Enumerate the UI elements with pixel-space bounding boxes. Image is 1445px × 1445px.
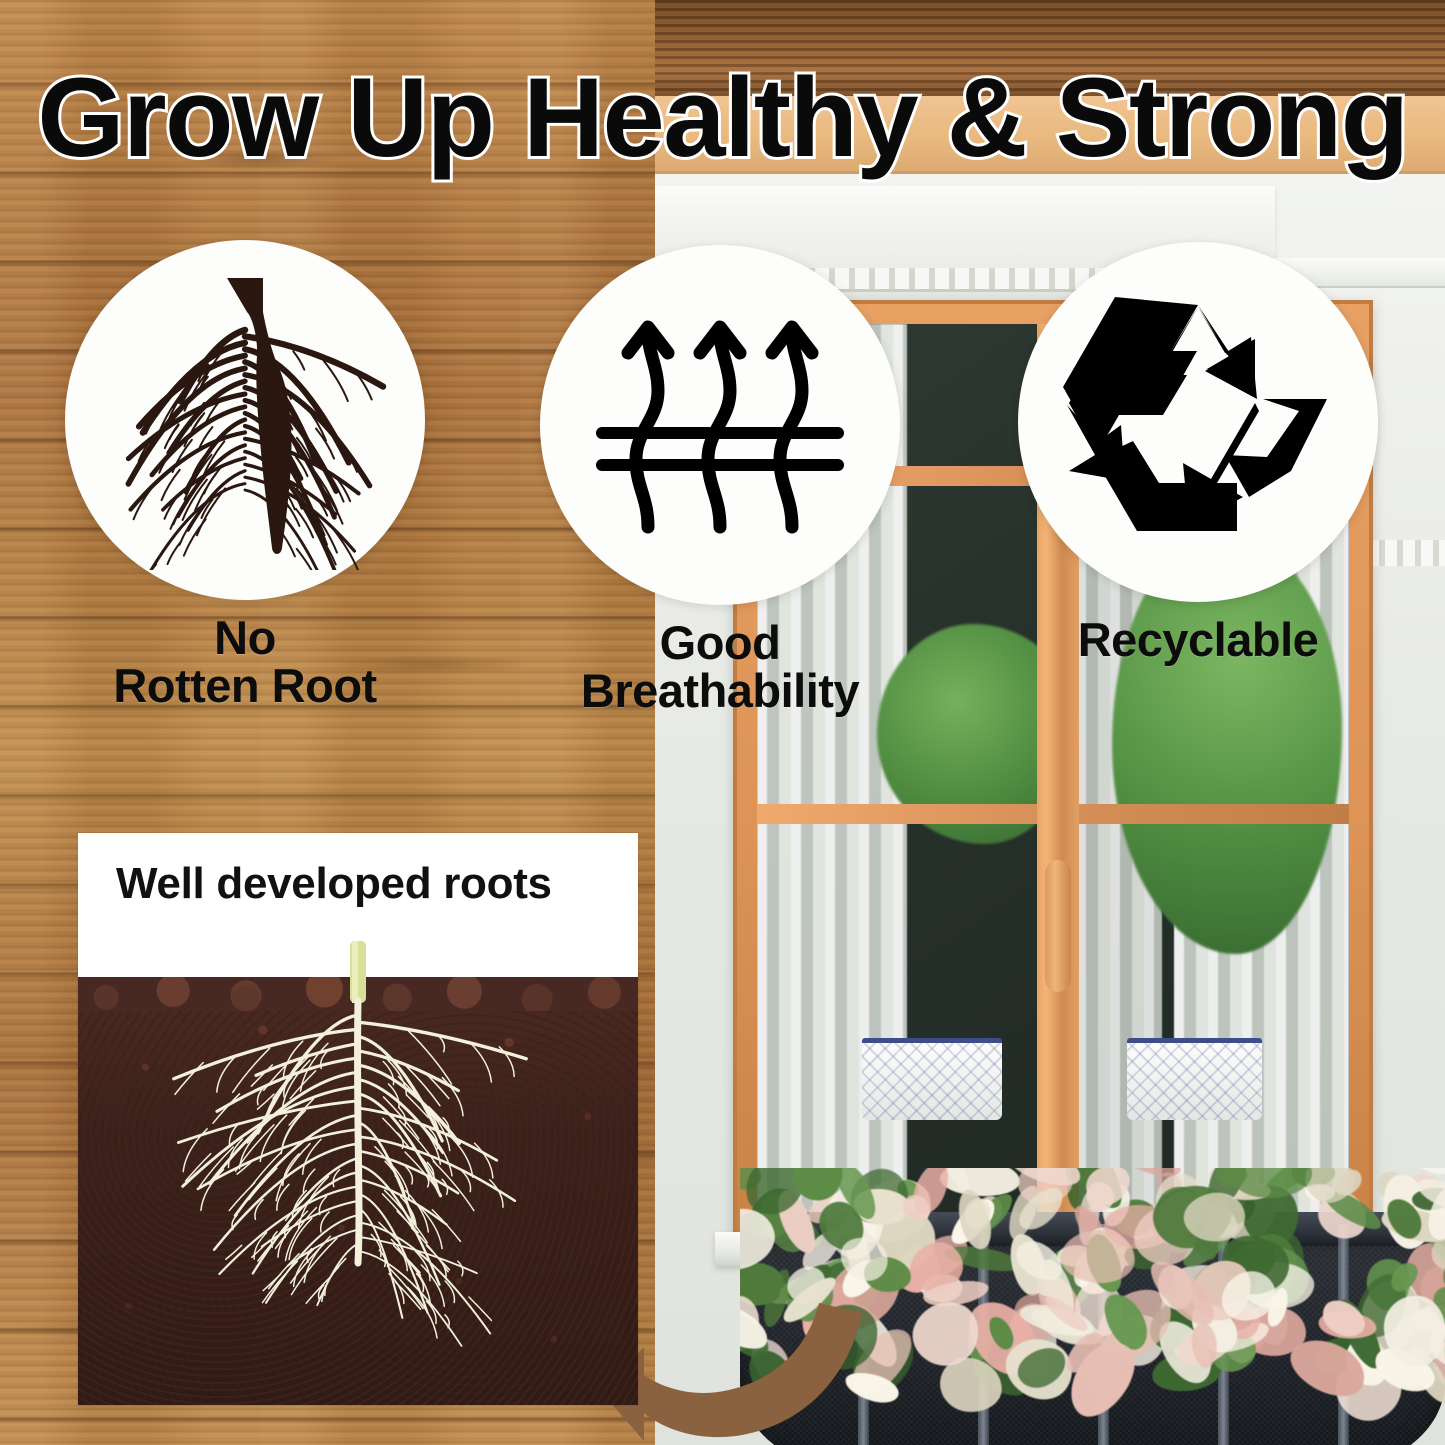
feature-caption: Good Breathability <box>540 619 900 715</box>
feature-no-rotten-root: No Rotten Root <box>65 240 425 710</box>
feature-circle <box>540 245 900 605</box>
planter-strap <box>1338 1224 1349 1445</box>
root-system-icon <box>95 270 395 570</box>
foliage-leaf <box>1079 1168 1138 1214</box>
feature-caption: Recyclable <box>1018 616 1378 664</box>
foliage-leaf <box>939 1168 1021 1199</box>
foliage-leaf <box>1208 1168 1260 1199</box>
foliage-leaf <box>1116 1168 1185 1185</box>
foliage-leaf <box>1213 1168 1250 1192</box>
foliage-leaf <box>1232 1168 1313 1199</box>
foliage-leaf <box>896 1177 921 1201</box>
foliage-leaf <box>1153 1168 1187 1201</box>
feature-circle <box>65 240 425 600</box>
planter-strap <box>1098 1224 1109 1445</box>
window-handle <box>1045 860 1071 992</box>
well-developed-roots-panel: Well developed roots <box>78 833 638 1405</box>
foliage-leaf <box>1377 1171 1408 1200</box>
feature-good-breathability: Good Breathability <box>540 245 900 715</box>
foliage-leaf <box>1411 1187 1445 1211</box>
marketing-image-canvas: Well developed roots No Rotten Root <box>0 0 1445 1445</box>
caption-line: Recyclable <box>1018 616 1378 664</box>
foliage-leaf <box>1213 1177 1272 1203</box>
feature-circle <box>1018 242 1378 602</box>
foliage-leaf <box>1231 1168 1265 1200</box>
foliage-leaf <box>831 1168 855 1189</box>
foliage-leaf <box>1304 1182 1336 1202</box>
foliage-leaf <box>1256 1168 1329 1205</box>
foliage-leaf <box>1015 1168 1075 1208</box>
foliage-leaf <box>1300 1168 1360 1208</box>
caption-line: No <box>65 614 425 662</box>
foliage-leaf <box>1291 1168 1336 1189</box>
foliage-leaf <box>1201 1168 1253 1214</box>
root-system-illustration <box>78 833 638 1405</box>
foliage-leaf <box>1080 1176 1120 1216</box>
breathability-arrows-icon <box>586 291 854 559</box>
page-title: Grow Up Healthy & Strong <box>0 62 1445 174</box>
foliage-leaf <box>1065 1168 1103 1213</box>
caption-line: Breathability <box>540 667 900 715</box>
foliage-leaf <box>786 1168 852 1209</box>
foliage-leaf <box>1065 1168 1089 1184</box>
foliage-leaf <box>1065 1168 1130 1216</box>
curved-arrow-left-icon <box>600 1255 870 1445</box>
ceramic-pot-right <box>1127 1038 1262 1120</box>
recycle-icon <box>1059 283 1337 561</box>
feature-recyclable: Recyclable <box>1018 242 1378 664</box>
foliage-leaf <box>740 1168 766 1197</box>
ceramic-pot-left <box>862 1038 1002 1120</box>
foliage-leaf <box>908 1168 955 1219</box>
foliage-leaf <box>930 1168 975 1196</box>
feature-caption: No Rotten Root <box>65 614 425 710</box>
foliage-leaf <box>1395 1168 1445 1180</box>
caption-line: Rotten Root <box>65 662 425 710</box>
caption-line: Good <box>540 619 900 667</box>
planter-strap <box>978 1224 989 1445</box>
foliage-leaf <box>1331 1168 1366 1201</box>
planter-strap <box>1218 1224 1229 1445</box>
foliage-leaf <box>1005 1168 1085 1193</box>
